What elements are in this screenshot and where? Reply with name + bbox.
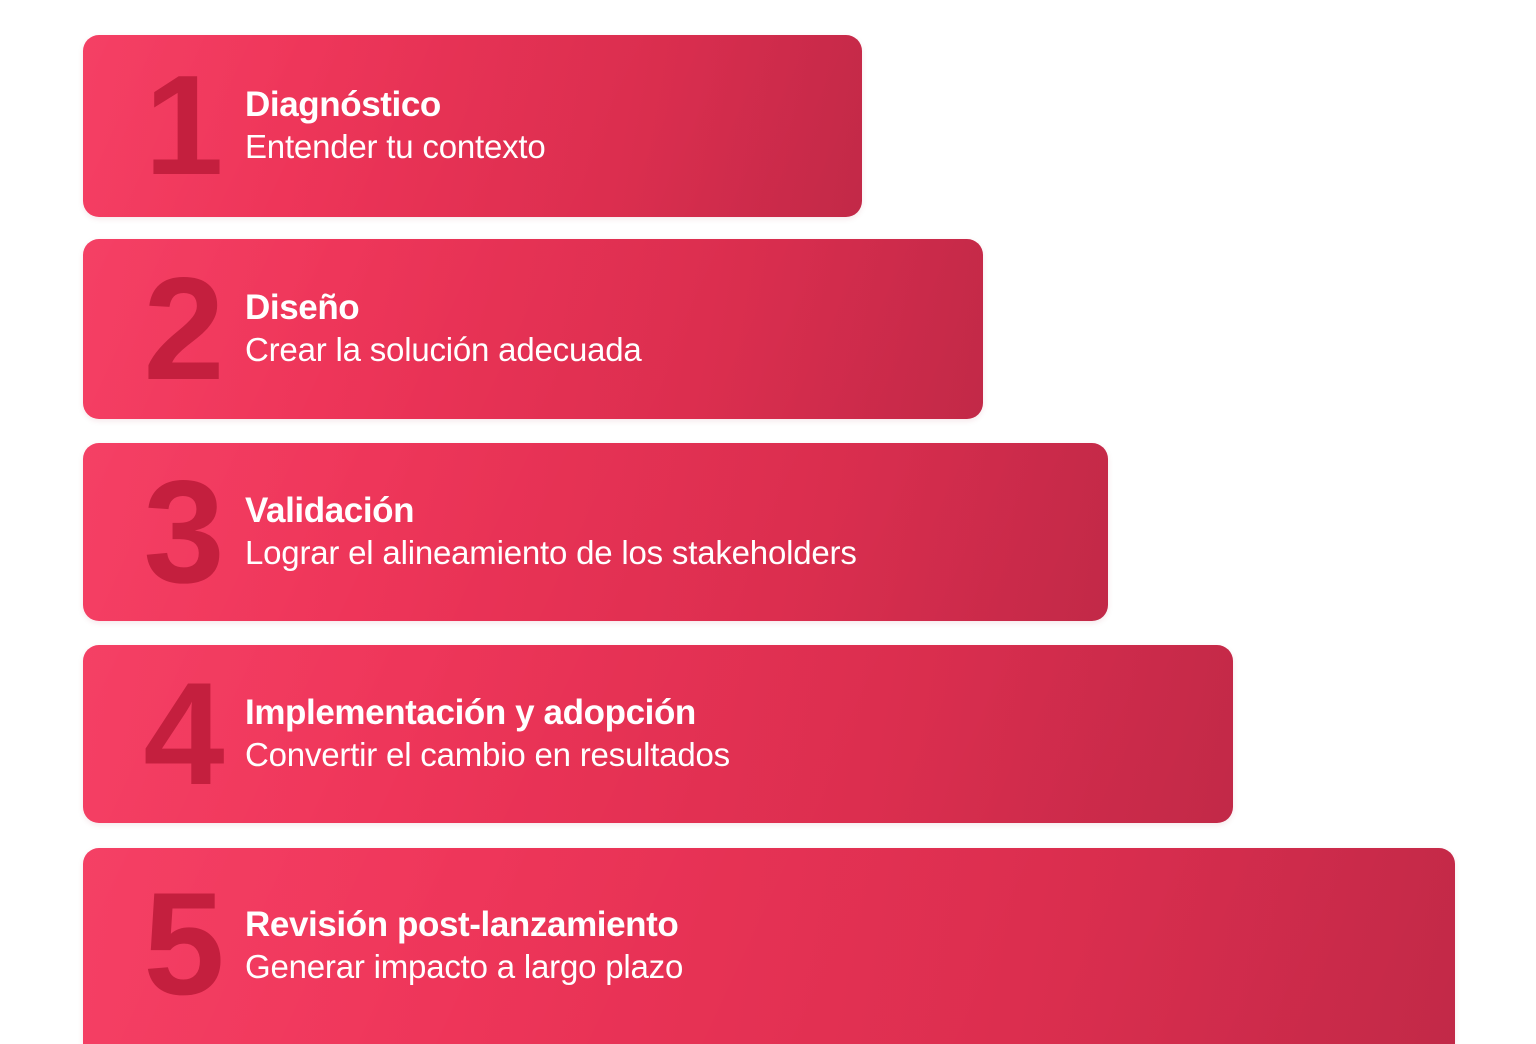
diagram-canvas: 1 Diagnóstico Entender tu contexto 2 Dis…: [0, 0, 1536, 1024]
step-bar-2[interactable]: 2 Diseño Crear la solución adecuada: [83, 239, 983, 419]
step-text-2: Diseño Crear la solución adecuada: [245, 288, 666, 371]
step-number-3: 3: [123, 459, 241, 605]
step-number-2: 2: [123, 256, 241, 402]
step-bar-1[interactable]: 1 Diagnóstico Entender tu contexto: [83, 35, 862, 217]
step-text-1: Diagnóstico Entender tu contexto: [245, 85, 570, 168]
step-bar-3[interactable]: 3 Validación Lograr el alineamiento de l…: [83, 443, 1108, 621]
step-bar-4[interactable]: 4 Implementación y adopción Convertir el…: [83, 645, 1233, 823]
step-number-4: 4: [123, 661, 241, 807]
step-subtitle-1: Entender tu contexto: [245, 127, 546, 167]
step-title-2: Diseño: [245, 288, 642, 329]
step-title-3: Validación: [245, 491, 857, 532]
step-subtitle-3: Lograr el alineamiento de los stakeholde…: [245, 533, 857, 573]
step-text-5: Revisión post-lanzamiento Generar impact…: [245, 905, 707, 988]
step-title-1: Diagnóstico: [245, 85, 546, 126]
step-title-5: Revisión post-lanzamiento: [245, 905, 683, 946]
step-title-4: Implementación y adopción: [245, 693, 730, 734]
step-subtitle-4: Convertir el cambio en resultados: [245, 735, 730, 775]
step-bar-5[interactable]: 5 Revisión post-lanzamiento Generar impa…: [83, 848, 1455, 1044]
step-subtitle-5: Generar impacto a largo plazo: [245, 947, 683, 987]
step-text-4: Implementación y adopción Convertir el c…: [245, 693, 754, 776]
step-text-3: Validación Lograr el alineamiento de los…: [245, 491, 881, 574]
step-subtitle-2: Crear la solución adecuada: [245, 330, 642, 370]
step-number-5: 5: [123, 871, 241, 1017]
step-number-1: 1: [123, 55, 241, 197]
